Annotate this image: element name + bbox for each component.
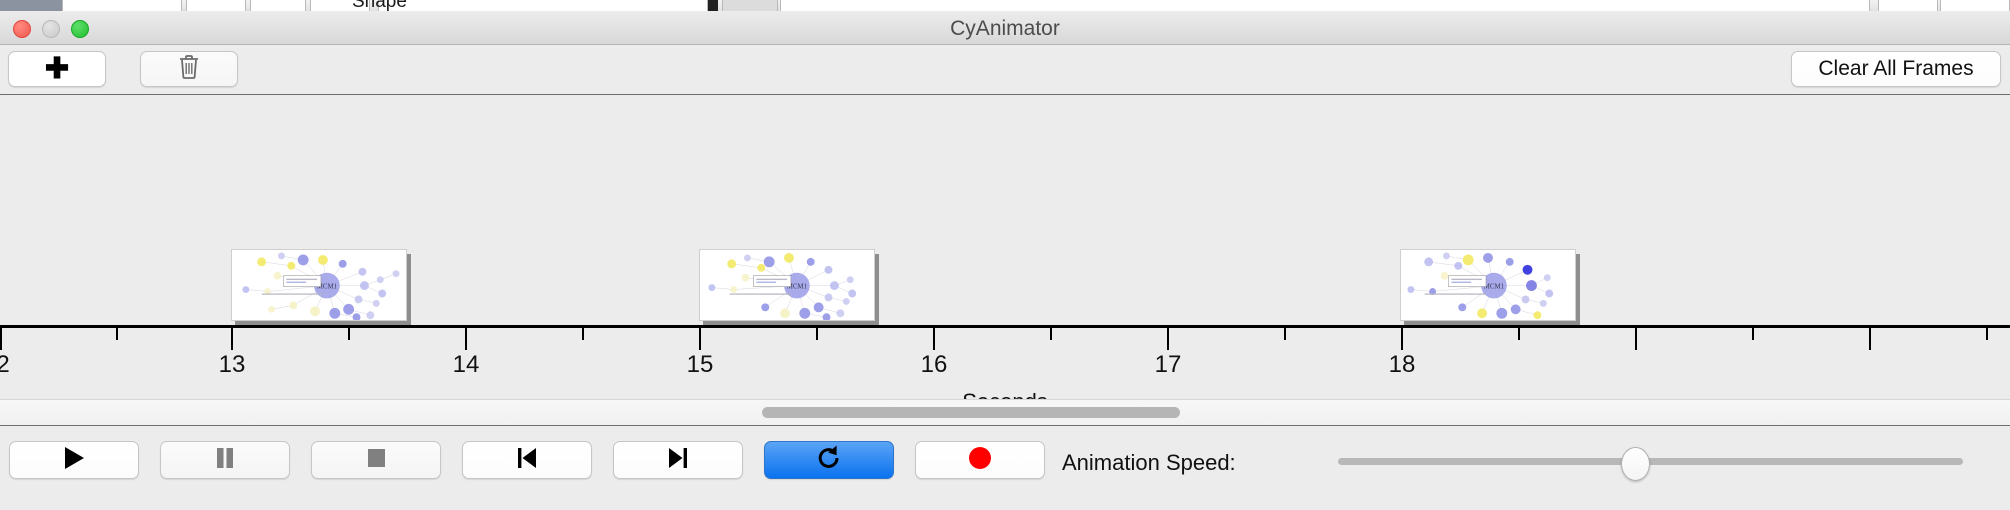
bg-segment — [186, 0, 246, 11]
trash-icon — [178, 54, 200, 85]
bg-segment — [1940, 0, 2010, 11]
bg-segment — [780, 0, 1870, 11]
network-graph-preview: MCM1 — [1401, 250, 1575, 321]
ruler-tick-minor — [348, 328, 350, 340]
thumbnail-image: MCM1 — [1400, 249, 1576, 321]
clear-all-frames-button[interactable]: Clear All Frames — [1791, 51, 2001, 87]
scrollbar-thumb[interactable] — [762, 407, 1180, 418]
ruler-tick-major — [0, 328, 2, 350]
ruler-tick-major — [231, 328, 233, 350]
skip-back-icon — [515, 446, 539, 475]
ruler-label: 15 — [687, 351, 714, 379]
plus-icon: ✚ — [45, 55, 69, 84]
frame-track[interactable]: MCM1 — [0, 95, 2010, 325]
record-button[interactable] — [915, 441, 1045, 479]
background-window-text: Shape — [352, 0, 407, 11]
ruler-tick-major — [1167, 328, 1169, 350]
ruler-tick-minor — [116, 328, 118, 340]
thumbnail-image: MCM1 — [699, 249, 875, 321]
ruler-tick-minor — [582, 328, 584, 340]
bg-segment — [378, 0, 708, 11]
frame-thumbnail[interactable]: MCM1 — [699, 249, 879, 325]
ruler-axis-line — [0, 325, 2010, 328]
ruler-label: 2 — [0, 351, 10, 379]
ruler-tick-major — [1401, 328, 1403, 350]
ruler-label: 17 — [1155, 351, 1182, 379]
window-title: CyAnimator — [0, 17, 2010, 41]
frame-thumbnail[interactable]: MCM1 — [231, 249, 411, 325]
ruler-tick-major — [699, 328, 701, 350]
skip-previous-button[interactable] — [462, 441, 592, 479]
animation-speed-slider-thumb[interactable] — [1621, 447, 1650, 481]
record-icon — [968, 446, 992, 475]
bg-segment — [62, 0, 182, 11]
ruler-label: 16 — [921, 351, 948, 379]
network-graph-preview: MCM1 — [700, 250, 874, 321]
ruler-tick-major — [1869, 328, 1871, 350]
bg-segment — [1878, 0, 1938, 11]
svg-text:MCM1: MCM1 — [1484, 284, 1505, 291]
play-button[interactable] — [9, 441, 139, 479]
pause-button[interactable] — [160, 441, 290, 479]
toolbar: ✚ Clear All Frames — [0, 45, 2010, 95]
pause-icon — [214, 446, 236, 475]
title-bar: CyAnimator — [0, 11, 2010, 45]
loop-button[interactable] — [764, 441, 894, 479]
ruler-tick-minor — [816, 328, 818, 340]
timeline-ruler[interactable]: 2 13 14 15 16 17 18 — [0, 325, 2010, 391]
ruler-tick-minor — [1518, 328, 1520, 340]
ruler-tick-minor — [1050, 328, 1052, 340]
ruler-label: 14 — [453, 351, 480, 379]
ruler-tick-minor — [1752, 328, 1754, 340]
delete-frame-button[interactable] — [140, 51, 238, 87]
bg-segment — [250, 0, 306, 11]
frame-thumbnail[interactable]: MCM1 — [1400, 249, 1580, 325]
bg-dark-segment — [0, 0, 62, 11]
add-frame-button[interactable]: ✚ — [8, 51, 106, 87]
play-icon — [63, 446, 85, 475]
ruler-tick-major — [465, 328, 467, 350]
ruler-tick-major — [1635, 328, 1637, 350]
stop-icon — [365, 446, 387, 475]
ruler-tick-minor — [1284, 328, 1286, 340]
ruler-tick-minor — [1986, 328, 1988, 340]
ruler-tick-major — [933, 328, 935, 350]
background-window-strip: Shape — [0, 0, 2010, 11]
thumbnail-image: MCM1 — [231, 249, 407, 321]
network-graph-preview: MCM1 — [232, 250, 406, 321]
playback-controls: Animation Speed: — [0, 425, 2010, 509]
bg-dark-segment — [708, 0, 718, 11]
bg-segment — [722, 0, 778, 11]
stop-button[interactable] — [311, 441, 441, 479]
clear-all-frames-label: Clear All Frames — [1818, 57, 1973, 81]
skip-next-button[interactable] — [613, 441, 743, 479]
cyanimator-window: CyAnimator ✚ Clear All Frames — [0, 11, 2010, 510]
ruler-label: 13 — [219, 351, 246, 379]
ruler-label: 18 — [1389, 351, 1416, 379]
timeline-panel[interactable]: MCM1 — [0, 95, 2010, 425]
animation-speed-slider[interactable] — [1338, 458, 1963, 465]
animation-speed-label: Animation Speed: — [1062, 450, 1236, 476]
loop-icon — [815, 444, 843, 477]
skip-forward-icon — [666, 446, 690, 475]
horizontal-scrollbar[interactable] — [0, 399, 2010, 425]
